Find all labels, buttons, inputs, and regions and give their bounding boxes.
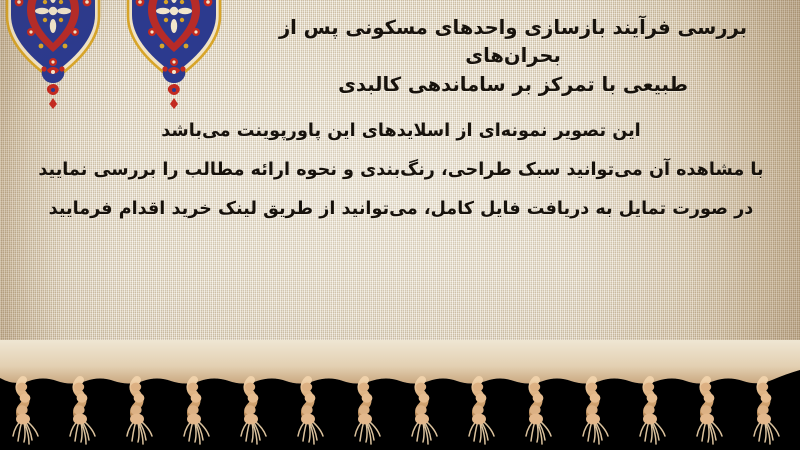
slide-body: این تصویر نمونه‌ای از اسلایدهای این پاور… (20, 112, 782, 229)
ornament-left-medallion (7, 0, 99, 109)
ornament-group (0, 0, 240, 116)
presentation-slide: بررسی فرآیند بازسازی واحدهای مسکونی پس ا… (0, 0, 800, 450)
ornament-right-medallion (128, 0, 220, 109)
carpet-cloth-edge (0, 340, 800, 384)
body-line-2: با مشاهده آن می‌توانید سبک طراحی، رنگ‌بن… (20, 151, 782, 190)
slide-title: بررسی فرآیند بازسازی واحدهای مسکونی پس ا… (240, 14, 786, 99)
body-line-3: در صورت تمایل به دریافت فایل کامل، می‌تو… (20, 190, 782, 229)
carpet-fringe (0, 340, 800, 450)
slide-title-line-1: بررسی فرآیند بازسازی واحدهای مسکونی پس ا… (240, 14, 786, 71)
body-line-1: این تصویر نمونه‌ای از اسلایدهای این پاور… (20, 112, 782, 151)
slide-title-line-2: طبیعی با تمرکز بر ساماندهی کالبدی (240, 71, 786, 99)
